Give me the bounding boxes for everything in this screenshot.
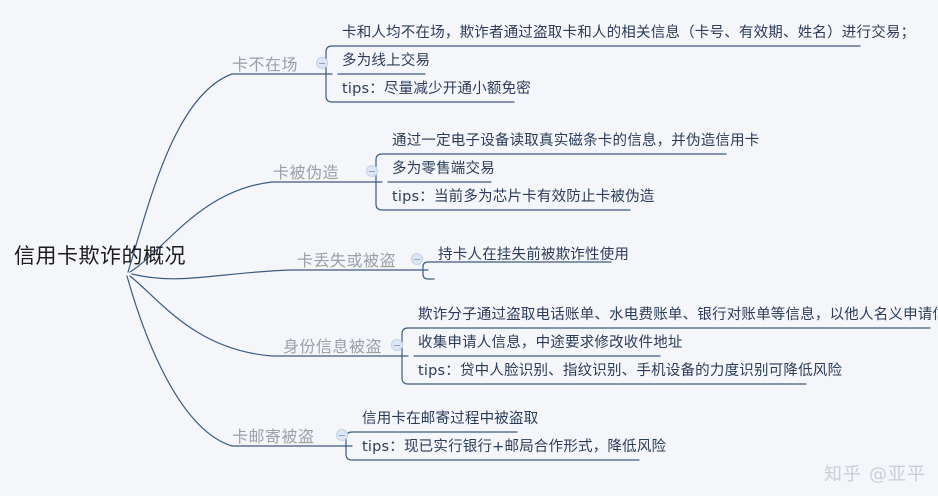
watermark: 知乎 @亚平 (824, 460, 926, 486)
leaf-item[interactable]: 多为线上交易 (342, 54, 430, 69)
leaf-item[interactable]: tips：贷中人脸识别、指纹识别、手机设备的力度识别可降低风险 (418, 364, 842, 379)
leaf-item[interactable]: 收集申请人信息，中途要求修改收件地址 (418, 336, 683, 351)
branch-label-ka-bu-zai-chang[interactable]: 卡不在场 (232, 51, 298, 75)
minus-circle-icon[interactable] (411, 253, 423, 265)
leaf-item[interactable]: tips：尽量减少开通小额免密 (342, 82, 531, 97)
leaf-item[interactable]: 卡和人均不在场，欺诈者通过盗取卡和人的相关信息（卡号、有效期、姓名）进行交易； (342, 26, 915, 41)
watermark-username: @亚平 (869, 460, 926, 486)
branch-label-ka-bei-wei-zao[interactable]: 卡被伪造 (273, 159, 339, 183)
leaf-item[interactable]: 欺诈分子通过盗取电话账单、水电费账单、银行对账单等信息，以他人名义申请信用卡 (418, 308, 938, 323)
mindmap-canvas: 信用卡欺诈的概况 卡不在场 卡和人均不在场，欺诈者通过盗取卡和人的相关信息（卡号… (0, 0, 938, 496)
leaf-item[interactable]: 通过一定电子设备读取真实磁条卡的信息，并伪造信用卡 (392, 134, 760, 149)
root-node[interactable]: 信用卡欺诈的概况 (14, 240, 186, 270)
minus-circle-icon[interactable] (336, 429, 348, 441)
leaf-item[interactable]: 多为零售端交易 (392, 162, 495, 177)
leaf-item[interactable]: 信用卡在邮寄过程中被盗取 (362, 412, 538, 427)
branch-label-shen-fen-xin-xi-bei-dao[interactable]: 身份信息被盗 (283, 333, 382, 357)
minus-circle-icon[interactable] (366, 165, 378, 177)
minus-circle-icon[interactable] (316, 57, 328, 69)
leaf-item[interactable]: tips：现已实行银行+邮局合作形式，降低风险 (362, 440, 666, 455)
leaf-item[interactable]: 持卡人在挂失前被欺诈性使用 (438, 248, 629, 263)
leaf-item[interactable]: tips：当前多为芯片卡有效防止卡被伪造 (392, 190, 654, 205)
minus-circle-icon[interactable] (391, 339, 403, 351)
branch-label-ka-diu-shi-huo-bei-dao[interactable]: 卡丢失或被盗 (297, 247, 396, 271)
branch-label-ka-you-ji-bei-dao[interactable]: 卡邮寄被盗 (232, 423, 315, 447)
zhihu-logo: 知乎 (824, 460, 862, 486)
